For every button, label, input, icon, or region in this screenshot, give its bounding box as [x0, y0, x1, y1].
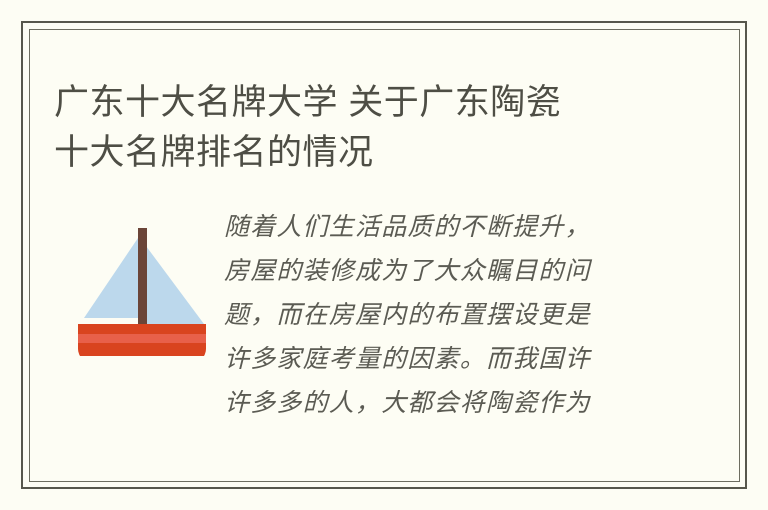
article-body-line-1: 随着人们生活品质的不断提升，: [224, 206, 684, 250]
sailboat-icon: [64, 206, 214, 356]
page-title: 广东十大名牌大学 关于广东陶瓷 十大名牌排名的情况: [54, 78, 694, 178]
article-content: 随着人们生活品质的不断提升， 房屋的装修成为了大众瞩目的问 题，而在房屋内的布置…: [54, 196, 714, 466]
article-body-line-4: 许多家庭考量的因素。而我国许: [224, 338, 684, 382]
article-card: 广东十大名牌大学 关于广东陶瓷 十大名牌排名的情况 随着人们生活品质的不断提升，…: [0, 0, 768, 510]
article-body-line-2: 房屋的装修成为了大众瞩目的问: [224, 250, 684, 294]
page-title-line-2: 十大名牌排名的情况: [54, 128, 694, 178]
article-body: 随着人们生活品质的不断提升， 房屋的装修成为了大众瞩目的问 题，而在房屋内的布置…: [224, 206, 684, 426]
article-body-line-5: 许多多的人，大都会将陶瓷作为: [224, 382, 684, 426]
article-body-line-3: 题，而在房屋内的布置摆设更是: [224, 294, 684, 338]
page-title-line-1: 广东十大名牌大学 关于广东陶瓷: [54, 78, 694, 128]
